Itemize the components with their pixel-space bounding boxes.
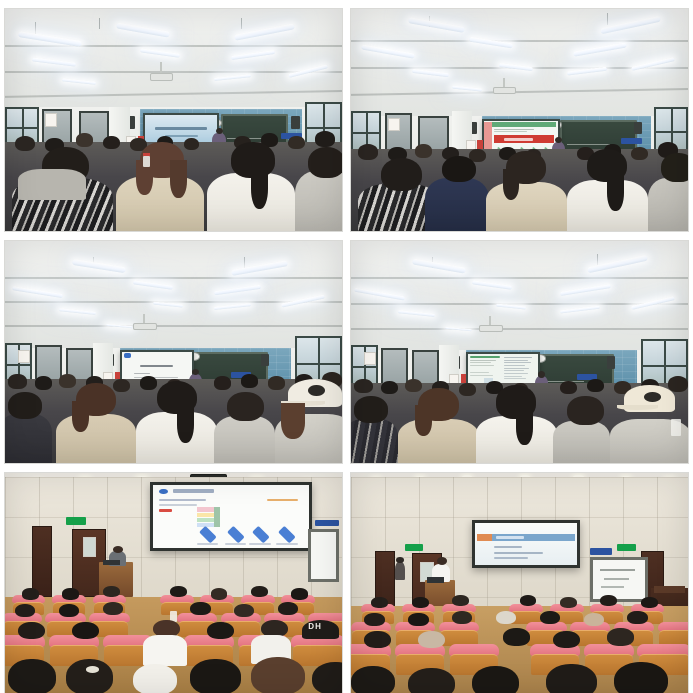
auditorium-scene-5: DH	[5, 473, 342, 693]
wall-speaker	[607, 356, 615, 368]
water-bottle	[671, 419, 681, 437]
photo-panel-middle-right	[350, 240, 689, 464]
slide-logo-icon	[124, 353, 132, 358]
projector	[493, 87, 517, 94]
wall-sign	[621, 138, 643, 144]
student-grey-right	[553, 421, 610, 463]
student-grey-hoodie	[295, 171, 342, 231]
auditorium-scene-6	[351, 473, 688, 693]
slide-subtitle	[159, 499, 206, 502]
presenter-head	[113, 546, 123, 553]
student-dark-jacket	[351, 419, 398, 463]
cap-letters-text: DH	[308, 623, 332, 634]
slide-bullet	[494, 557, 529, 559]
photo-panel-bottom-left: DH	[4, 472, 343, 693]
projector	[479, 325, 503, 332]
wall-speaker	[634, 122, 642, 134]
exit-sign	[405, 544, 424, 551]
slide-tab	[477, 534, 491, 542]
presenter-head	[538, 371, 545, 378]
whiteboard	[590, 557, 647, 601]
wall-speaker	[261, 354, 269, 366]
projector	[150, 73, 174, 81]
water-bottle	[143, 156, 150, 167]
exit-sign	[66, 517, 86, 525]
room-sign	[590, 548, 612, 554]
whiteboard	[308, 529, 338, 582]
wall-speaker	[291, 116, 299, 129]
diagram-diamond	[227, 526, 244, 543]
student-white-shirt	[143, 635, 187, 666]
wall-poster	[364, 352, 376, 365]
slide-bullet	[494, 552, 543, 554]
photo-collage: DH	[0, 0, 693, 693]
door-window	[83, 537, 96, 557]
slide-logo-icon	[159, 489, 168, 495]
student-beige-coat	[116, 176, 204, 232]
slide-heading	[470, 356, 499, 358]
student-navy-hoodie	[425, 178, 489, 231]
lecture-hall-scene-3	[5, 241, 342, 463]
student-grey-right	[214, 416, 275, 463]
lecture-hall-scene-1	[5, 9, 342, 231]
photo-panel-middle-left	[4, 240, 343, 464]
slide-tag	[159, 509, 171, 512]
student-beige-coat	[486, 182, 567, 231]
projection-screen	[472, 520, 580, 569]
diagram-diamond	[252, 526, 269, 543]
slide-title	[155, 127, 207, 130]
lecture-hall-scene-2	[351, 9, 688, 231]
slide-header	[492, 122, 556, 126]
student-beige-coat	[56, 414, 137, 463]
projector	[133, 323, 157, 330]
wall-poster	[45, 113, 57, 126]
photo-panel-top-right	[350, 8, 689, 232]
room-sign	[315, 520, 339, 527]
staff-head	[396, 557, 403, 563]
exit-sign-right	[617, 544, 636, 551]
diagram-diamond	[199, 526, 216, 543]
diagram-diamond	[278, 526, 295, 543]
slide-title	[173, 489, 213, 493]
wall-poster	[18, 350, 30, 363]
student-grey-sleeve	[648, 178, 688, 231]
photo-panel-bottom-right	[350, 472, 689, 693]
slide-title	[140, 365, 174, 368]
wall-poster	[388, 118, 400, 131]
slide-title	[496, 536, 525, 539]
slide-corner-note	[267, 499, 298, 502]
staff-standing	[395, 562, 405, 580]
student-dark-left	[5, 414, 52, 463]
student-beige-coat	[398, 419, 479, 463]
photo-panel-top-left	[4, 8, 343, 232]
door	[32, 526, 52, 597]
projection-screen	[150, 482, 312, 551]
lecture-hall-scene-4	[351, 241, 688, 463]
slide-bullet	[494, 546, 523, 548]
